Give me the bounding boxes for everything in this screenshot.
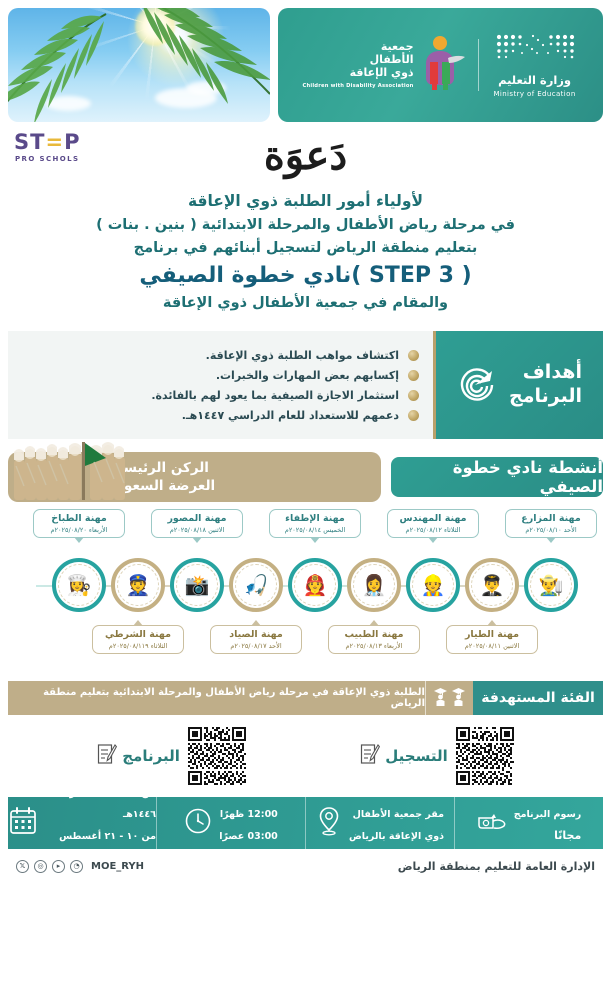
bullet-icon xyxy=(408,370,419,381)
location-line2: ذوي الإعاقة بالرياض xyxy=(349,831,444,842)
calendar-icon xyxy=(8,806,38,840)
fees-label: رسوم البرنامج xyxy=(514,809,582,820)
profession-card-farmer[interactable]: مهنة المزارع الأحد ٢٠٢٥/٠٨/١٠م xyxy=(505,509,597,538)
profession-badge-doctor: 👩‍⚕️ xyxy=(347,558,401,612)
profession-date: الأحد ٢٠٢٥/٠٨/١٧م xyxy=(213,642,299,650)
invite-line-3: بتعليم منطقة الرياض لتسجيل أبنائهم في بر… xyxy=(0,240,611,256)
profession-date: الأربعاء ٢٠٢٥/٠٨/١٣م xyxy=(331,642,417,650)
moe-logo: وزارة التعليم Ministry of Education xyxy=(479,33,591,98)
card-pointer-icon xyxy=(546,537,556,543)
card-pointer-icon xyxy=(369,620,379,626)
profession-card-fisherman[interactable]: مهنة الصياد الأحد ٢٠٢٥/٠٨/١٧م xyxy=(210,625,302,654)
palm-leaf-icon xyxy=(8,12,114,122)
objective-item: اكتشاف مواهب الطلبة ذوي الإعاقة. xyxy=(16,349,419,362)
time-start: 12:00 ظهرًا xyxy=(220,809,278,820)
form-edit-icon xyxy=(360,743,380,769)
target-bullseye-icon xyxy=(457,363,497,407)
daawa-calligraphy: دَعوَة xyxy=(0,136,611,176)
info-footer-bar: رسوم البرنامج مجانًا مقر جمعية الأطفال ذ… xyxy=(8,797,603,849)
profession-badge-fisherman: 🎣 xyxy=(229,558,283,612)
card-pointer-icon xyxy=(192,537,202,543)
profession-card-police[interactable]: مهنة الشرطي الثلاثاء ٢٠٢٥/٠٨/١١٩م xyxy=(92,625,184,654)
student-boy-icon xyxy=(433,687,448,710)
profession-name: مهنة المصور xyxy=(154,513,240,524)
profession-date: الاثنين ٢٠٢٥/٠٨/١١م xyxy=(449,642,535,650)
money-hand-icon xyxy=(477,809,507,837)
map-pin-icon xyxy=(316,806,342,840)
info-cell-location: مقر جمعية الأطفال ذوي الإعاقة بالرياض xyxy=(306,797,455,849)
profession-badge-photographer: 📸 xyxy=(170,558,224,612)
qr-item-program[interactable]: البرنامج xyxy=(97,727,246,785)
step-tagline: PRO SCHOLS xyxy=(14,155,80,163)
objectives-title-line1: أهداف xyxy=(509,361,582,385)
invite-line-5: والمقام في جمعية الأطفال ذوي الإعاقة xyxy=(0,295,611,311)
objectives-list: اكتشاف مواهب الطلبة ذوي الإعاقة. إكسابهم… xyxy=(8,331,433,439)
profession-name: مهنة المزارع xyxy=(508,513,594,524)
objective-text: دعمهم للاستعداد للعام الدراسي ١٤٤٧هـ. xyxy=(182,409,399,422)
cda-figure-icon xyxy=(420,34,466,96)
card-pointer-icon xyxy=(133,620,143,626)
step-pro-schols-logo: ST=P PRO SCHOLS xyxy=(14,130,80,163)
profession-badge-police: 👮 xyxy=(111,558,165,612)
firefighter-avatar-icon: 🧑‍🚒 xyxy=(294,564,336,606)
program-title: نادي خطوة الصيفي xyxy=(139,263,351,288)
logo-divider xyxy=(478,39,479,91)
program-qr-code[interactable] xyxy=(188,727,246,785)
fees-value: مجانًا xyxy=(554,829,581,842)
bullet-icon xyxy=(408,410,419,421)
invite-program-name: ( STEP 3 )نادي خطوة الصيفي xyxy=(0,263,611,288)
card-pointer-icon xyxy=(74,537,84,543)
farmer-avatar-icon: 👨‍🌾 xyxy=(530,564,572,606)
profession-card-firefighter[interactable]: مهنة الإطفاء الخميس ٢٠٢٥/٠٨/١٤م xyxy=(269,509,361,538)
profession-name: مهنة الصياد xyxy=(213,629,299,640)
profession-card-engineer[interactable]: مهنة المهندس الثلاثاء ٢٠٢٥/٠٨/١٢م xyxy=(387,509,479,538)
step-wordmark: ST=P xyxy=(14,130,80,154)
profession-card-doctor[interactable]: مهنة الطبيب الأربعاء ٢٠٢٥/٠٨/١٣م xyxy=(328,625,420,654)
target-audience-text: الطلبة ذوي الإعاقة في مرحلة رياض الأطفال… xyxy=(8,681,426,715)
fisherman-avatar-icon: 🎣 xyxy=(235,564,277,606)
info-cell-fees: رسوم البرنامج مجانًا xyxy=(455,797,603,849)
instagram-icon[interactable]: ◎ xyxy=(34,860,47,873)
profession-name: مهنة الطباخ xyxy=(36,513,122,524)
student-girl-icon xyxy=(451,687,466,710)
police-avatar-icon: 👮 xyxy=(117,564,159,606)
objectives-section: أهداف البرنامج اكتشاف مواهب الطلبة ذوي ا… xyxy=(8,331,603,439)
objective-item: استثمار الاجازة الصيفية بما يعود لهم بال… xyxy=(16,389,419,402)
main-corner-panel: الركن الرئيسي العرضة السعودية xyxy=(8,452,381,502)
daawa-heading: دَعوَة xyxy=(0,136,611,176)
objective-text: استثمار الاجازة الصيفية بما يعود لهم بال… xyxy=(151,389,399,402)
profession-date: الثلاثاء ٢٠٢٥/٠٨/١٢م xyxy=(390,526,476,534)
moe-arabic-name: وزارة التعليم xyxy=(493,73,577,87)
invite-line-2: في مرحلة رياض الأطفال والمرحلة الابتدائي… xyxy=(0,217,611,233)
qr-item-registration[interactable]: التسجيل xyxy=(360,727,513,785)
photographer-avatar-icon: 📸 xyxy=(176,564,218,606)
objectives-title-panel: أهداف البرنامج xyxy=(433,331,603,439)
chef-avatar-icon: 👩‍🍳 xyxy=(58,564,100,606)
profession-timeline: مهنة المزارع الأحد ٢٠٢٥/٠٨/١٠م مهنة المه… xyxy=(6,509,605,679)
program-code: ( STEP 3 ) xyxy=(351,263,471,288)
x-twitter-icon[interactable]: 𝕏 xyxy=(16,860,29,873)
profession-card-pilot[interactable]: مهنة الطيار الاثنين ٢٠٢٥/٠٨/١١م xyxy=(446,625,538,654)
profession-name: مهنة الطبيب xyxy=(331,629,417,640)
invitation-body: لأولياء أمور الطلبة ذوي الإعاقة في مرحلة… xyxy=(0,192,611,311)
objective-item: دعمهم للاستعداد للعام الدراسي ١٤٤٧هـ. xyxy=(16,409,419,422)
cda-arabic-line2: الأطفال xyxy=(302,54,413,67)
registration-qr-code[interactable] xyxy=(456,727,514,785)
social-handle: MOE_RYH xyxy=(91,861,144,872)
qr-label-registration: التسجيل xyxy=(385,747,447,765)
card-pointer-icon xyxy=(310,537,320,543)
profession-card-photographer[interactable]: مهنة المصور الاثنين ٢٠٢٥/٠٨/١٨م xyxy=(151,509,243,538)
activities-title: أنشطة نادي خطوة الصيفي xyxy=(391,457,603,497)
profession-date: الأربعاء ٢٠٢٥/٠٨/٢٠م xyxy=(36,526,122,534)
youtube-icon[interactable]: ▸ xyxy=(52,860,65,873)
cda-arabic-line3: ذوي الإعاقة xyxy=(302,67,413,80)
profession-name: مهنة المهندس xyxy=(390,513,476,524)
snapchat-icon[interactable]: ◔ xyxy=(70,860,83,873)
profession-badge-engineer: 👷 xyxy=(406,558,460,612)
bullet-icon xyxy=(408,350,419,361)
profession-badge-chef: 👩‍🍳 xyxy=(52,558,106,612)
clock-icon xyxy=(184,807,212,839)
doctor-avatar-icon: 👩‍⚕️ xyxy=(353,564,395,606)
profession-date: الثلاثاء ٢٠٢٥/٠٨/١١٩م xyxy=(95,642,181,650)
summer-hero-banner xyxy=(8,8,270,122)
profession-name: مهنة الإطفاء xyxy=(272,513,358,524)
profession-date: الخميس ٢٠٢٥/٠٨/١٤م xyxy=(272,526,358,534)
date-hijri: من ١٦ - ٢٧ صـفــر ١٤٤٦هـ xyxy=(69,788,156,821)
location-line1: مقر جمعية الأطفال xyxy=(353,809,444,820)
profession-date: الأحد ٢٠٢٥/٠٨/١٠م xyxy=(508,526,594,534)
logo-panel: وزارة التعليم Ministry of Education xyxy=(278,8,603,122)
poster-header: وزارة التعليم Ministry of Education xyxy=(0,0,611,126)
cda-english-name: Children with Disability Association xyxy=(302,83,413,89)
profession-date: الاثنين ٢٠٢٥/٠٨/١٨م xyxy=(154,526,240,534)
engineer-avatar-icon: 👷 xyxy=(412,564,454,606)
profession-badge-farmer: 👨‍🌾 xyxy=(524,558,578,612)
profession-name: مهنة الطيار xyxy=(449,629,535,640)
education-authority-name: الإدارة العامة للتعليم بمنطقة الرياض xyxy=(398,860,595,873)
invite-line-1: لأولياء أمور الطلبة ذوي الإعاقة xyxy=(0,192,611,210)
card-pointer-icon xyxy=(251,620,261,626)
cda-arabic-line1: جمعية xyxy=(302,41,413,54)
cda-logo: جمعية الأطفال ذوي الإعاقة Children with … xyxy=(290,34,477,96)
objective-text: اكتشاف مواهب الطلبة ذوي الإعاقة. xyxy=(206,349,399,362)
profession-badge-firefighter: 🧑‍🚒 xyxy=(288,558,342,612)
info-cell-date: من ١٦ - ٢٧ صـفــر ١٤٤٦هـ من ١٠ - ٢١ أغسط… xyxy=(8,797,157,849)
target-audience-bar: الفئة المستهدفة الطلبة ذوي الإعاقة في مر… xyxy=(8,681,603,715)
target-audience-title: الفئة المستهدفة xyxy=(473,681,603,715)
card-pointer-icon xyxy=(428,537,438,543)
card-pointer-icon xyxy=(487,620,497,626)
moe-english-name: Ministry of Education xyxy=(493,90,577,98)
poster-root: وزارة التعليم Ministry of Education xyxy=(0,0,611,1000)
pilot-avatar-icon: 👨‍✈️ xyxy=(471,564,513,606)
target-audience-icons xyxy=(426,681,473,715)
form-edit-icon xyxy=(97,743,117,769)
bullet-icon xyxy=(408,390,419,401)
profession-name: مهنة الشرطي xyxy=(95,629,181,640)
saudi-ardah-troupe-image xyxy=(10,440,140,502)
moe-dot-pattern-icon xyxy=(493,33,577,67)
palm-leaf-icon xyxy=(130,8,270,112)
qr-label-program: البرنامج xyxy=(122,747,180,765)
info-cell-time: 12:00 ظهرًا 03:00 عصرًا xyxy=(157,797,306,849)
social-media-group: 𝕏 ◎ ▸ ◔ MOE_RYH xyxy=(16,860,144,873)
objectives-title-line2: البرنامج xyxy=(509,385,582,409)
objective-item: إكسابهم بعض المهارات والخبرات. xyxy=(16,369,419,382)
objective-text: إكسابهم بعض المهارات والخبرات. xyxy=(216,369,399,382)
invitation-section: ST=P PRO SCHOLS دَعوَة لأولياء أمور الطل… xyxy=(0,126,611,325)
profession-card-chef[interactable]: مهنة الطباخ الأربعاء ٢٠٢٥/٠٨/٢٠م xyxy=(33,509,125,538)
time-end: 03:00 عصرًا xyxy=(219,831,278,842)
profession-badge-pilot: 👨‍✈️ xyxy=(465,558,519,612)
activities-header: أنشطة نادي خطوة الصيفي xyxy=(8,451,603,503)
